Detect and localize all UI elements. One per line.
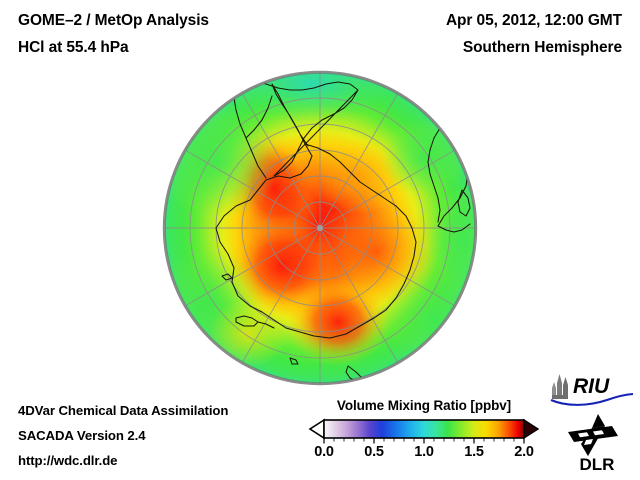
riu-logo: RIU bbox=[549, 371, 635, 407]
visualization-page: GOME–2 / MetOp Analysis HCl at 55.4 hPa … bbox=[0, 0, 640, 480]
colorbar-tick-label: 1.0 bbox=[414, 444, 434, 460]
colorbar-tick-label: 0.5 bbox=[364, 444, 384, 460]
colorbar-svg bbox=[306, 418, 542, 444]
riu-spires-icon bbox=[552, 374, 568, 399]
colorbar-dither bbox=[324, 420, 524, 438]
page-subtitle: HCl at 55.4 hPa bbox=[18, 39, 129, 57]
timestamp-label: Apr 05, 2012, 12:00 GMT bbox=[446, 12, 622, 30]
colorbar-low-extend-cap bbox=[310, 420, 324, 438]
colorbar-tick-label: 2.0 bbox=[514, 444, 534, 460]
dlr-star-icon bbox=[568, 414, 618, 456]
footer-method-label: 4DVar Chemical Data Assimilation bbox=[18, 403, 228, 418]
orthographic-projection-svg bbox=[162, 70, 478, 386]
riu-wordmark: RIU bbox=[573, 375, 610, 398]
globe-map bbox=[162, 70, 478, 386]
colorbar-tick-labels: 0.0 0.5 1.0 1.5 2.0 bbox=[306, 444, 542, 466]
colorbar-tick-label: 1.5 bbox=[464, 444, 484, 460]
colorbar-high-extend-cap bbox=[524, 420, 538, 438]
footer-version-label: SACADA Version 2.4 bbox=[18, 428, 145, 443]
footer-url-link[interactable]: http://wdc.dlr.de bbox=[18, 453, 117, 468]
dlr-wordmark: DLR bbox=[580, 455, 615, 472]
colorbar-tick-label: 0.0 bbox=[314, 444, 334, 460]
south-pole-marker bbox=[317, 225, 323, 231]
colorbar: Volume Mixing Ratio [ppbv] bbox=[306, 398, 542, 470]
hemisphere-label: Southern Hemisphere bbox=[463, 39, 622, 57]
dlr-logo: DLR bbox=[562, 410, 632, 472]
page-title: GOME–2 / MetOp Analysis bbox=[18, 12, 209, 30]
colorbar-title: Volume Mixing Ratio [ppbv] bbox=[306, 398, 542, 413]
